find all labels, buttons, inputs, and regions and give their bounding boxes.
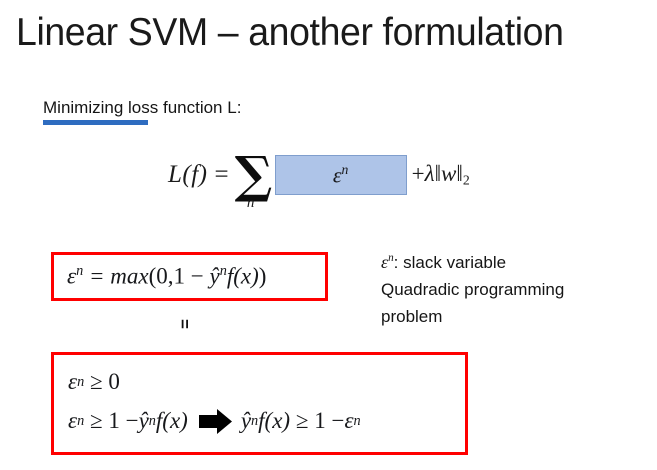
implied-rhs-prefix: 1 − — [314, 408, 344, 434]
implied-y-hat-symbol: ŷ — [241, 408, 251, 434]
page-title: Linear SVM – another formulation — [16, 10, 616, 56]
slack-definition-text: : slack variable — [394, 253, 506, 272]
implied-relation-symbol: ≥ — [296, 408, 309, 434]
note-line-quadratic-programming: Quadradic programming — [381, 276, 641, 303]
implied-f-of-x-term: f(x) — [258, 408, 290, 434]
hinge-close-paren: ) — [259, 264, 267, 289]
summation-operator: ∑ n — [235, 155, 267, 195]
weight-vector-symbol: w — [441, 161, 456, 186]
norm-order-subscript: 2 — [463, 173, 470, 188]
regularizer-lambda: λ — [425, 161, 435, 186]
slack-term: εn — [333, 162, 348, 188]
hinge-loss-emphasis-box: εn = max(0,1 − ŷnf(x)) — [51, 252, 328, 301]
loss-equals-sign: = — [215, 161, 229, 189]
note-line-problem: problem — [381, 303, 641, 330]
subtitle-text: Minimizing loss function L: — [43, 98, 241, 118]
slack-term-exponent: n — [342, 162, 349, 177]
max-function-name: max — [110, 264, 148, 289]
sigma-icon: ∑ — [235, 155, 267, 195]
loss-function-lhs: L(f) — [168, 161, 208, 189]
subtitle-block: Minimizing loss function L: — [43, 98, 241, 118]
subtitle-underline-accent — [43, 120, 148, 125]
margin-rhs-prefix: 1 − — [108, 408, 138, 434]
margin-lhs-exponent: n — [77, 413, 84, 430]
loss-formula: L(f) = ∑ n εn +λ‖w‖2 — [168, 148, 470, 202]
nonneg-relation-symbol: ≥ — [90, 369, 103, 395]
constraint-line-margin: εn ≥ 1 − ŷnf(x) ŷnf(x) ≥ 1 − εn — [68, 401, 465, 441]
regularization-term: +λ‖w‖2 — [412, 161, 470, 188]
nonneg-lhs-base: ε — [68, 369, 77, 395]
f-of-x-term: f(x) — [227, 264, 259, 289]
implied-rhs-base: ε — [344, 408, 353, 434]
highlighted-slack-term-box: εn — [275, 155, 407, 195]
margin-y-hat-symbol: ŷ — [139, 408, 149, 434]
hinge-equals-sign: = — [89, 264, 105, 289]
annotations-block: εn: slack variable Quadradic programming… — [381, 245, 641, 330]
slack-term-base: ε — [333, 162, 342, 187]
regularizer-plus-sign: + — [412, 161, 425, 186]
margin-y-hat-exponent: n — [149, 413, 156, 430]
constraints-emphasis-box: εn ≥ 0 εn ≥ 1 − ŷnf(x) ŷnf(x) ≥ 1 − εn — [51, 352, 468, 455]
hinge-lhs-base: ε — [67, 264, 76, 289]
equivalence-rotated-equals-icon: = — [174, 319, 194, 329]
hinge-arguments-prefix: 0,1 − — [156, 264, 209, 289]
constraint-line-nonnegativity: εn ≥ 0 — [68, 363, 465, 401]
margin-relation-symbol: ≥ — [90, 408, 103, 434]
implied-y-hat-exponent: n — [251, 413, 258, 430]
nonneg-rhs-value: 0 — [108, 369, 120, 395]
slack-variable-definition: εn: slack variable — [381, 245, 641, 276]
summation-index-label: n — [235, 195, 267, 212]
margin-lhs-base: ε — [68, 408, 77, 434]
nonneg-lhs-exponent: n — [77, 374, 84, 391]
y-hat-symbol: ŷ — [209, 264, 219, 289]
margin-f-of-x-term: f(x) — [156, 408, 188, 434]
hinge-loss-equation: εn = max(0,1 − ŷnf(x)) — [54, 263, 266, 290]
y-hat-exponent: n — [220, 263, 227, 279]
implication-arrow-icon — [199, 409, 232, 434]
implied-rhs-exponent: n — [354, 413, 361, 430]
